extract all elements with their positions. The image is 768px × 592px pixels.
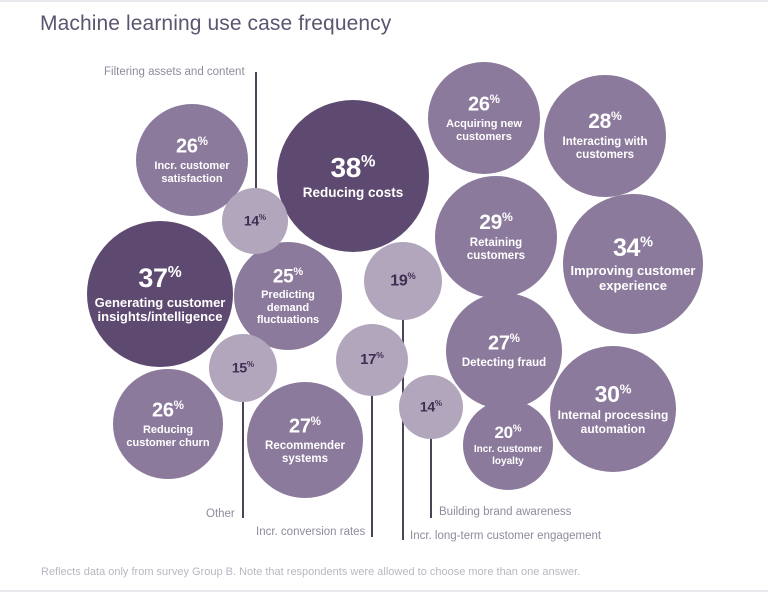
bubble-label: Internal processing automation bbox=[550, 409, 676, 436]
bubble[interactable]: 15% bbox=[209, 334, 277, 402]
bubble-value: 19% bbox=[390, 271, 415, 290]
bubble[interactable]: 29%Retaining customers bbox=[435, 176, 557, 298]
bubble-value: 26% bbox=[468, 93, 500, 116]
bubble[interactable]: 30%Internal processing automation bbox=[550, 346, 676, 472]
bubble-percent-sign: % bbox=[311, 415, 321, 428]
bubble-label: Recommender systems bbox=[247, 440, 363, 466]
bubble-percent-sign: % bbox=[407, 271, 415, 281]
bubble-value: 14% bbox=[244, 213, 266, 229]
bubble-value: 38% bbox=[331, 152, 376, 183]
bubble[interactable]: 34%Improving customer experience bbox=[563, 194, 703, 334]
bubble-percent-sign: % bbox=[490, 93, 500, 106]
bubble-percent-sign: % bbox=[611, 109, 622, 123]
leader-label: Incr. long-term customer engagement bbox=[410, 530, 601, 542]
bubble[interactable]: 14% bbox=[222, 188, 288, 254]
bubble-label: Interacting with customers bbox=[544, 136, 666, 162]
bubble-value: 28% bbox=[588, 110, 622, 134]
bubble-label: Acquiring new customers bbox=[428, 118, 540, 143]
bubble-percent-sign: % bbox=[198, 135, 208, 148]
bubble-percent-sign: % bbox=[259, 213, 266, 222]
bubble-label: Incr. customer loyalty bbox=[463, 444, 553, 466]
leader-label: Building brand awareness bbox=[439, 506, 571, 518]
bubble-percent-sign: % bbox=[502, 210, 513, 224]
bubble-label: Predicting demand fluctuations bbox=[234, 289, 342, 326]
chart-footnote: Reflects data only from survey Group B. … bbox=[41, 566, 580, 578]
bubble-value: 14% bbox=[420, 399, 442, 415]
bubble-percent-sign: % bbox=[435, 399, 442, 408]
bubble[interactable]: 26%Reducing customer churn bbox=[113, 369, 223, 479]
bubble[interactable]: 38%Reducing costs bbox=[277, 100, 429, 252]
leader-label: Incr. conversion rates bbox=[256, 526, 365, 538]
bubble[interactable]: 27%Detecting fraud bbox=[446, 293, 562, 409]
bubble-value: 34% bbox=[613, 234, 653, 262]
bubble[interactable]: 27%Recommender systems bbox=[247, 382, 363, 498]
bubble-percent-sign: % bbox=[247, 360, 254, 369]
leader-line bbox=[430, 427, 432, 518]
bubble-value: 17% bbox=[360, 351, 384, 369]
bubble-percent-sign: % bbox=[513, 424, 522, 435]
bubble-value: 25% bbox=[273, 266, 303, 288]
bubble-label: Incr. customer satisfaction bbox=[136, 160, 248, 185]
bubble[interactable]: 37%Generating customer insights/intellig… bbox=[87, 221, 233, 367]
bubble-value: 37% bbox=[138, 263, 181, 293]
bubble[interactable]: 26%Acquiring new customers bbox=[428, 62, 540, 174]
bubble-percent-sign: % bbox=[640, 235, 653, 251]
bubble-value: 27% bbox=[488, 332, 520, 355]
bubble-value: 26% bbox=[176, 135, 208, 158]
leader-line bbox=[255, 72, 257, 203]
bubble-value: 30% bbox=[595, 382, 632, 408]
bubble[interactable]: 19% bbox=[364, 242, 442, 320]
leader-label: Filtering assets and content bbox=[104, 66, 245, 78]
bubble-label: Improving customer experience bbox=[563, 264, 703, 293]
bubble[interactable]: 14% bbox=[399, 375, 463, 439]
bubble[interactable]: 20%Incr. customer loyalty bbox=[463, 400, 553, 490]
bubble-label: Retaining customers bbox=[435, 237, 557, 263]
bubble-percent-sign: % bbox=[376, 350, 384, 360]
bubble-label: Reducing customer churn bbox=[113, 424, 223, 449]
bubble[interactable]: 17% bbox=[336, 324, 408, 396]
bubble-plot-area: Filtering assets and contentOtherIncr. c… bbox=[0, 0, 768, 592]
bubble-value: 20% bbox=[494, 423, 521, 442]
bubble-chart-root: Machine learning use case frequency Filt… bbox=[0, 0, 768, 592]
bubble-value: 29% bbox=[479, 211, 513, 235]
bubble-value: 26% bbox=[152, 399, 184, 422]
bubble-percent-sign: % bbox=[174, 399, 184, 412]
leader-line bbox=[371, 383, 373, 537]
bubble-percent-sign: % bbox=[168, 264, 182, 281]
leader-label: Other bbox=[206, 508, 235, 520]
bubble-value: 27% bbox=[289, 415, 321, 438]
bubble-percent-sign: % bbox=[361, 152, 375, 170]
leader-line bbox=[242, 391, 244, 518]
bubble-label: Detecting fraud bbox=[456, 357, 552, 370]
bubble-value: 15% bbox=[232, 360, 254, 376]
bubble-percent-sign: % bbox=[620, 381, 632, 396]
bubble-label: Generating customer insights/intelligenc… bbox=[87, 296, 233, 325]
bubble[interactable]: 28%Interacting with customers bbox=[544, 75, 666, 197]
bubble-label: Reducing costs bbox=[297, 185, 410, 200]
bubble-percent-sign: % bbox=[293, 266, 303, 278]
bubble-percent-sign: % bbox=[510, 332, 520, 345]
